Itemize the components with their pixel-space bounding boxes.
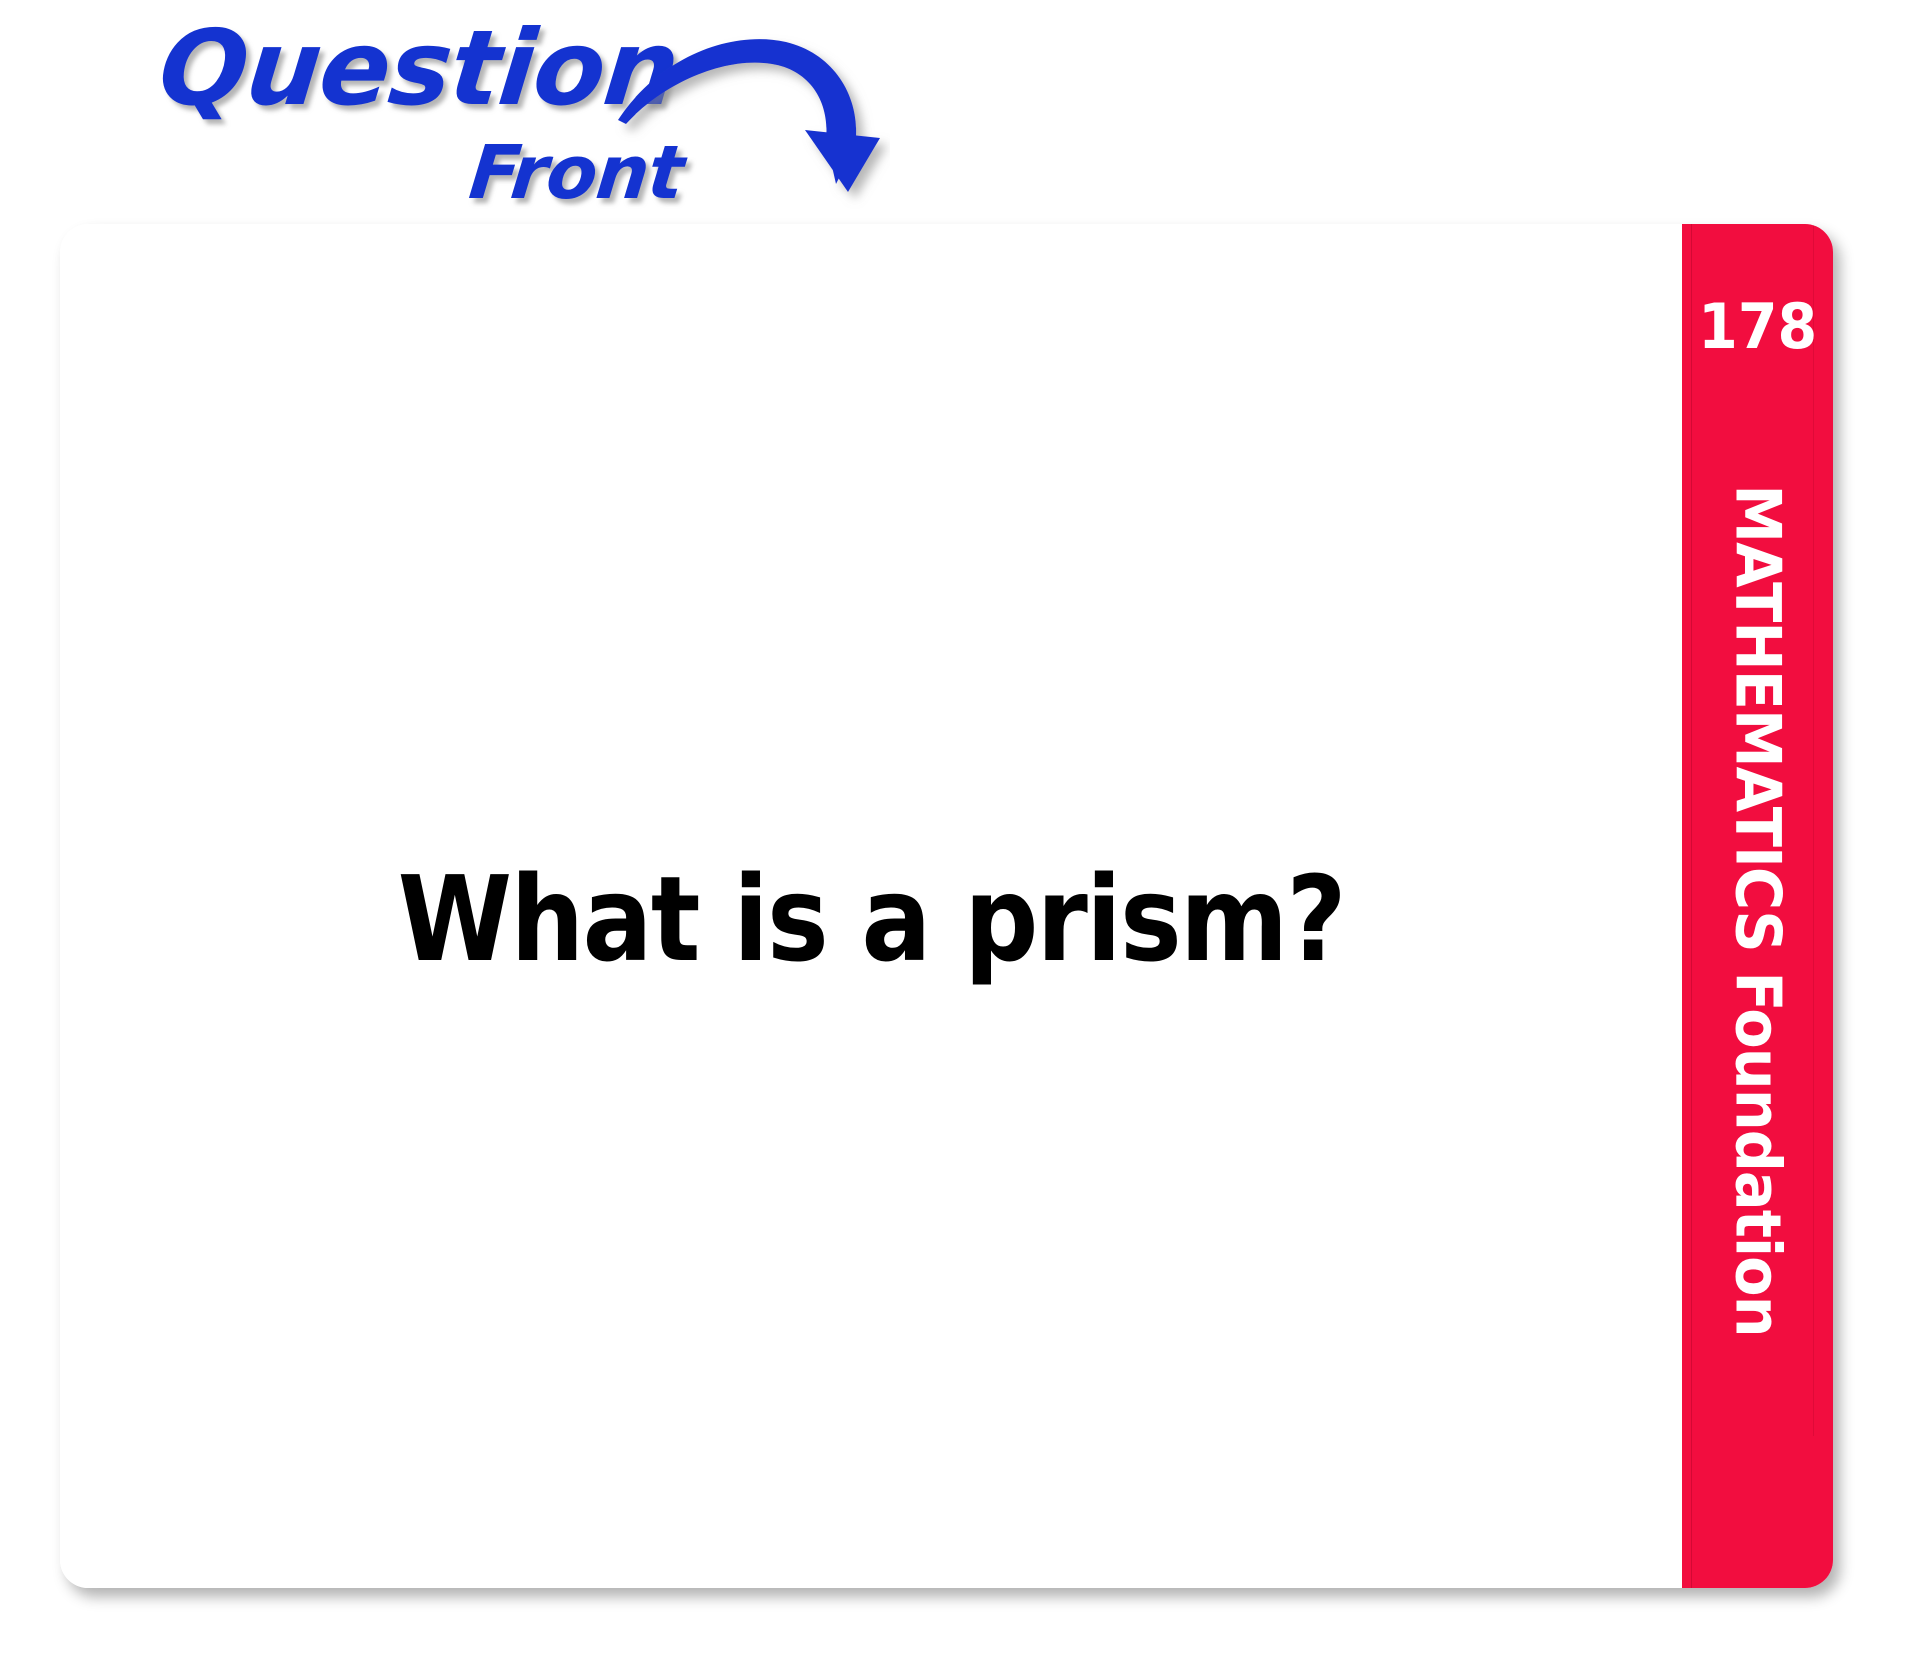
- curved-down-right-arrow-icon: [600, 20, 890, 220]
- annotation-question-label: Question: [155, 16, 684, 120]
- question-text: What is a prism?: [345, 853, 1398, 985]
- annotation-overlay: Question Front: [0, 0, 1100, 240]
- flashcard[interactable]: What is a prism? 178 MATHEMATICS Foundat…: [60, 224, 1833, 1588]
- flashcard-front-face: What is a prism?: [60, 224, 1682, 1588]
- category-spine: 178 MATHEMATICS Foundation: [1682, 224, 1833, 1588]
- card-number: 178: [1698, 296, 1817, 358]
- category-label: MATHEMATICS Foundation: [1727, 484, 1789, 1336]
- spine-label-wrapper: MATHEMATICS Foundation: [1682, 440, 1833, 1588]
- annotation-front-label: Front: [466, 136, 687, 210]
